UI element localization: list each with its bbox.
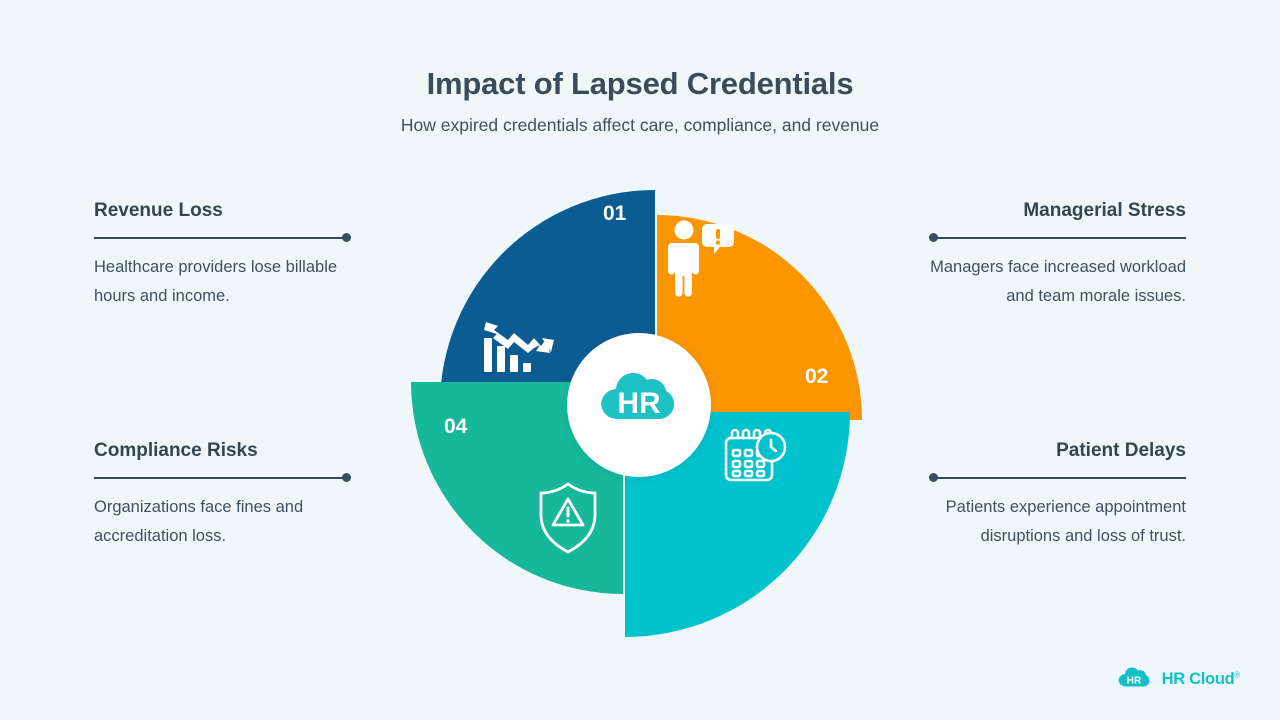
callout-title: Patient Delays <box>930 440 1186 463</box>
callout-rule <box>94 472 350 484</box>
rule-line <box>933 237 1186 239</box>
rule-line <box>94 477 347 479</box>
callout-patient-delays: Patient Delays Patients experience appoi… <box>930 440 1186 552</box>
rule-dot <box>929 233 938 242</box>
infographic-canvas: Impact of Lapsed Credentials How expired… <box>0 0 1280 720</box>
callout-title: Revenue Loss <box>94 200 350 223</box>
callout-rule <box>930 232 1186 244</box>
segment-04-number: 04 <box>444 415 468 438</box>
brand-name: HR Cloud <box>1162 670 1235 688</box>
rule-dot <box>929 473 938 482</box>
callout-title: Compliance Risks <box>94 440 350 463</box>
callout-description: Healthcare providers lose billable hours… <box>94 253 350 312</box>
hub-label: HR <box>617 387 661 420</box>
callout-description: Organizations face fines and accreditati… <box>94 493 350 552</box>
segment-02-number: 02 <box>805 365 828 388</box>
brand-logo: HR HR Cloud® <box>1115 666 1240 692</box>
callout-rule <box>94 232 350 244</box>
page-subtitle: How expired credentials affect care, com… <box>0 115 1280 136</box>
brand-cloud-icon: HR <box>1115 666 1153 692</box>
hub-logo: HR <box>591 365 687 445</box>
callout-rule <box>930 472 1186 484</box>
segment-01-number: 01 <box>603 202 627 225</box>
page-title: Impact of Lapsed Credentials <box>0 66 1280 102</box>
brand-mark-text: HR <box>1126 676 1141 687</box>
center-hub: HR <box>567 333 711 477</box>
rule-dot <box>342 473 351 482</box>
brand-name-wrap: HR Cloud® <box>1162 670 1240 689</box>
rule-line <box>94 237 347 239</box>
rule-line <box>933 477 1186 479</box>
callout-description: Managers face increased workload and tea… <box>930 253 1186 312</box>
callout-title: Managerial Stress <box>930 200 1186 223</box>
brand-trademark: ® <box>1234 670 1240 679</box>
rule-dot <box>342 233 351 242</box>
callout-description: Patients experience appointment disrupti… <box>930 493 1186 552</box>
callout-compliance-risks: Compliance Risks Organizations face fine… <box>94 440 350 552</box>
callout-revenue-loss: Revenue Loss Healthcare providers lose b… <box>94 200 350 312</box>
callout-managerial-stress: Managerial Stress Managers face increase… <box>930 200 1186 312</box>
